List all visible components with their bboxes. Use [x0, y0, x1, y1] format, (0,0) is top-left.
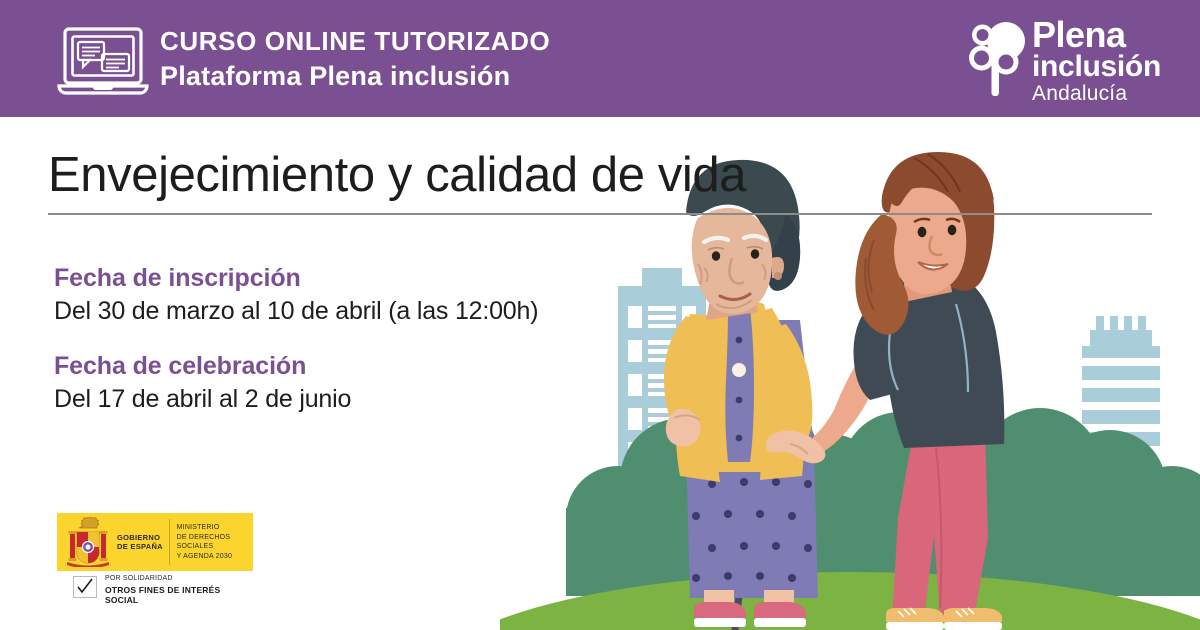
- enrollment-date-heading: Fecha de inscripción: [54, 262, 538, 294]
- spain-coat-of-arms-icon: [65, 517, 111, 567]
- header-text-group: CURSO ONLINE TUTORIZADO Plataforma Plena…: [160, 26, 550, 92]
- gov-label-line2: DE ESPAÑA: [117, 542, 167, 552]
- ministry-line-3: Y AGENDA 2030: [177, 552, 253, 562]
- gov-logo-footer: POR SOLIDARIDAD OTROS FINES DE INTERÉS S…: [57, 574, 253, 604]
- plena-inclusion-logo: Plena inclusión Andalucía: [966, 18, 1146, 104]
- solidarity-line-1: POR SOLIDARIDAD: [105, 575, 173, 582]
- gov-ministry-label: MINISTERIO DE DERECHOS SOCIALES Y AGENDA…: [177, 523, 253, 561]
- ministry-line-2: DE DERECHOS SOCIALES: [177, 533, 253, 552]
- dates-spacer: [54, 328, 538, 350]
- gov-logo-bar: GOBIERNO DE ESPAÑA MINISTERIO DE DERECHO…: [57, 513, 253, 571]
- gov-logo-separator: [169, 519, 170, 565]
- brand-name-plena: Plena: [1032, 18, 1152, 52]
- gov-label-line1: GOBIERNO: [117, 533, 167, 543]
- course-promo-poster: CURSO ONLINE TUTORIZADO Plataforma Plena…: [0, 0, 1200, 630]
- title-divider: [48, 213, 1152, 215]
- brand-wordmark: Plena inclusión Andalucía: [1032, 18, 1152, 106]
- brand-name-inclusion: inclusión: [1032, 52, 1152, 82]
- header-platform: Plataforma Plena inclusión: [160, 60, 550, 92]
- header-bar: CURSO ONLINE TUTORIZADO Plataforma Plena…: [0, 0, 1200, 117]
- page-title: Envejecimiento y calidad de vida: [48, 147, 746, 203]
- celebration-date-value: Del 17 de abril al 2 de junio: [54, 382, 538, 416]
- header-kicker: CURSO ONLINE TUTORIZADO: [160, 26, 550, 56]
- dates-block: Fecha de inscripción Del 30 de marzo al …: [54, 262, 538, 416]
- solidarity-line-2: OTROS FINES DE INTERÉS SOCIAL: [105, 585, 253, 605]
- checked-box-icon: [73, 576, 97, 598]
- enrollment-date-value: Del 30 de marzo al 10 de abril (a las 12…: [54, 294, 538, 328]
- plena-inclusion-flower-icon: [966, 20, 1028, 96]
- laptop-chat-icon: [57, 26, 149, 98]
- brand-region: Andalucía: [1032, 82, 1152, 106]
- gov-government-label: GOBIERNO DE ESPAÑA: [117, 533, 167, 552]
- ministry-line-1: MINISTERIO: [177, 523, 253, 533]
- spanish-government-logo: GOBIERNO DE ESPAÑA MINISTERIO DE DERECHO…: [57, 513, 253, 604]
- celebration-date-heading: Fecha de celebración: [54, 350, 538, 382]
